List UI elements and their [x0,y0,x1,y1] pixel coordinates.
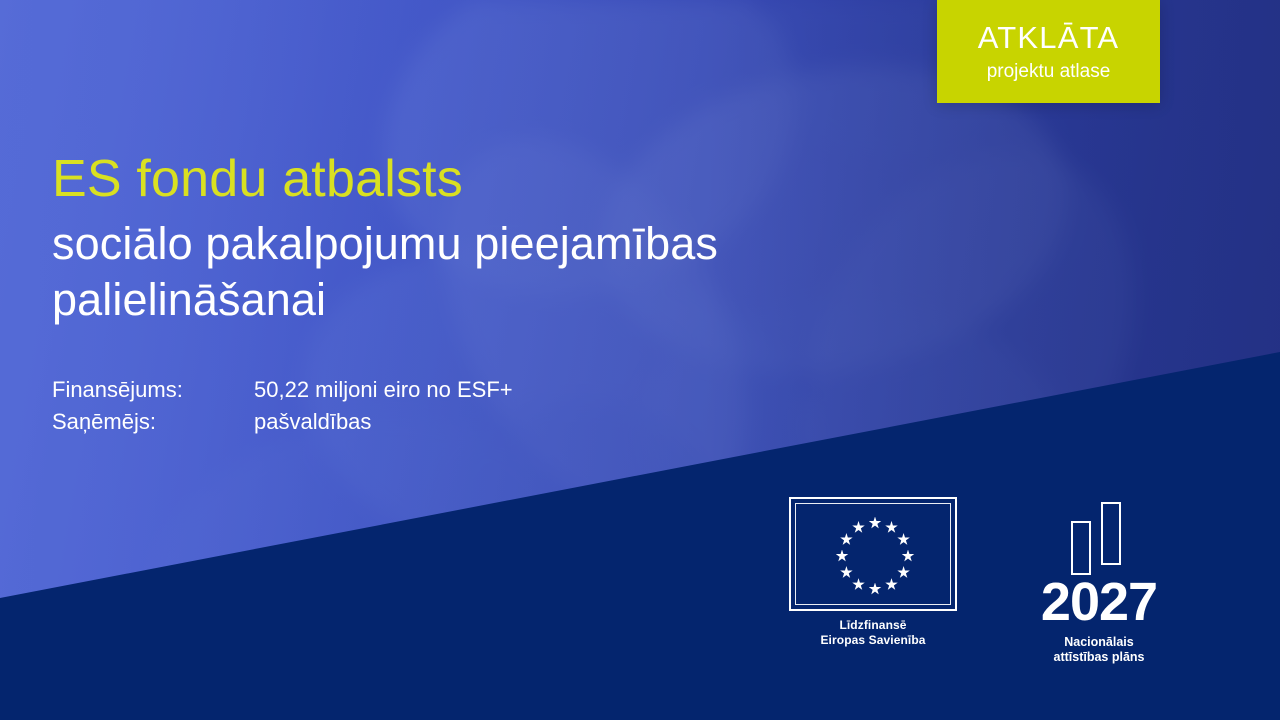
nap-logo-caption: Nacionālais attīstības plāns [1013,635,1185,665]
nap-bar-right-icon [1101,502,1121,565]
nap-year: 2027 [1013,575,1185,629]
open-call-badge: ATKLĀTA projektu atlase [937,0,1160,103]
slide-canvas: ATKLĀTA projektu atlase ES fondu atbalst… [0,0,1280,720]
meta-row-recipient: Saņēmējs: pašvaldības [52,406,513,438]
headline-accent-line: ES fondu atbalsts [52,148,972,210]
eu-flag-icon [789,497,957,611]
meta-value-recipient: pašvaldības [254,406,513,438]
meta-row-funding: Finansējums: 50,22 miljoni eiro no ESF+ [52,374,513,406]
eu-funding-logo: Līdzfinansē Eiropas Savienība [786,497,960,648]
badge-title: ATKLĀTA [978,22,1120,53]
nap-bar-left-icon [1071,521,1091,575]
meta-label-recipient: Saņēmējs: [52,406,254,438]
eu-caption-line-2: Eiropas Savienība [786,633,960,648]
meta-value-funding: 50,22 miljoni eiro no ESF+ [254,374,513,406]
headline-line-2: sociālo pakalpojumu pieejamības [52,216,972,272]
headline-line-3: palielināšanai [52,272,972,328]
nap-caption-line-2: attīstības plāns [1013,650,1185,665]
meta-block: Finansējums: 50,22 miljoni eiro no ESF+ … [52,374,513,438]
badge-subtitle: projektu atlase [987,62,1111,81]
eu-logo-caption: Līdzfinansē Eiropas Savienība [786,618,960,648]
nap-bars-icon [1013,497,1185,575]
nap-caption-line-1: Nacionālais [1013,635,1185,650]
headline-main: sociālo pakalpojumu pieejamības palielin… [52,216,972,328]
meta-label-funding: Finansējums: [52,374,254,406]
nap-2027-logo: 2027 Nacionālais attīstības plāns [1013,497,1185,665]
eu-caption-line-1: Līdzfinansē [786,618,960,633]
headline-block: ES fondu atbalsts sociālo pakalpojumu pi… [52,148,972,328]
